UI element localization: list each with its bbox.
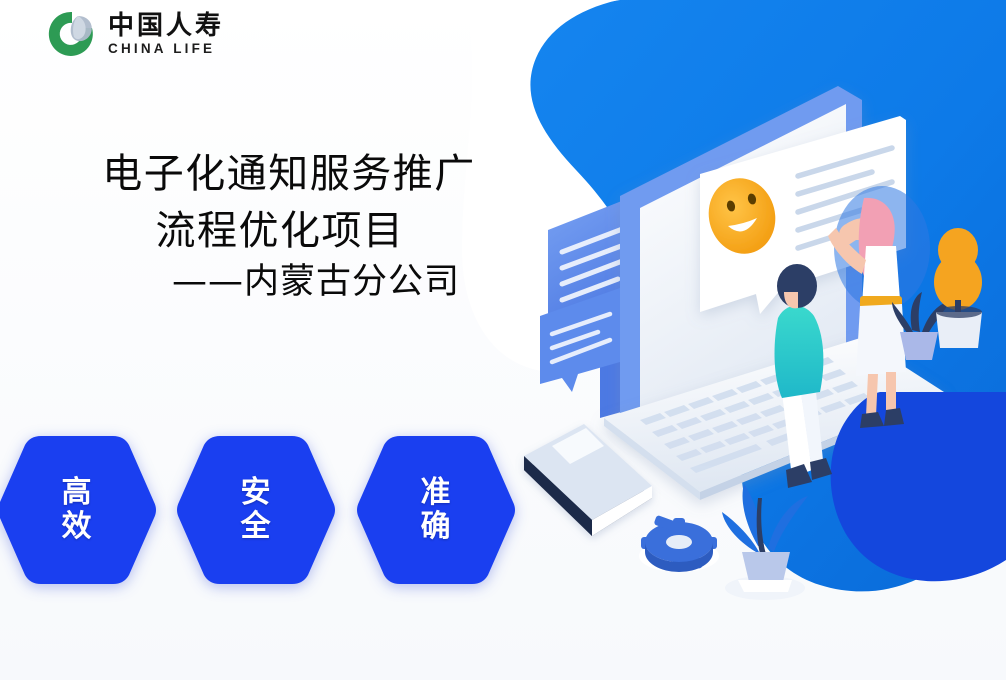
slide-title-block: 电子化通知服务推广 流程优化项目 ——内蒙古分公司 bbox=[0, 146, 560, 307]
badge-char-top: 安 bbox=[241, 475, 272, 510]
title-subtitle: ——内蒙古分公司 bbox=[0, 258, 560, 308]
badge-efficient[interactable]: 高效 bbox=[0, 430, 158, 590]
badge-char-bottom: 效 bbox=[62, 509, 93, 544]
badge-label-accurate: 准确 bbox=[421, 476, 452, 543]
orange-topiary-tree bbox=[934, 228, 982, 348]
brand-name-en: CHINA LIFE bbox=[108, 42, 224, 56]
badge-safe[interactable]: 安全 bbox=[175, 430, 337, 590]
presentation-cover-slide: A bbox=[0, 0, 1006, 680]
china-life-c-ring-logo bbox=[44, 6, 100, 62]
badge-accurate[interactable]: 准确 bbox=[355, 430, 517, 590]
badge-char-top: 准 bbox=[421, 475, 452, 510]
badge-label-safe: 安全 bbox=[241, 476, 272, 543]
badge-char-bottom: 确 bbox=[421, 509, 452, 544]
title-line-1: 电子化通知服务推广 bbox=[0, 146, 560, 203]
badge-char-top: 高 bbox=[62, 475, 93, 510]
badge-label-efficient: 高效 bbox=[62, 476, 93, 543]
brand-logo[interactable]: 中国人寿 CHINA LIFE bbox=[44, 6, 224, 62]
title-line-2: 流程优化项目 bbox=[0, 203, 560, 260]
feature-badges: 高效 安全 准确 bbox=[0, 430, 560, 600]
badge-char-bottom: 全 bbox=[241, 509, 272, 544]
brand-name-cn: 中国人寿 bbox=[108, 13, 224, 39]
